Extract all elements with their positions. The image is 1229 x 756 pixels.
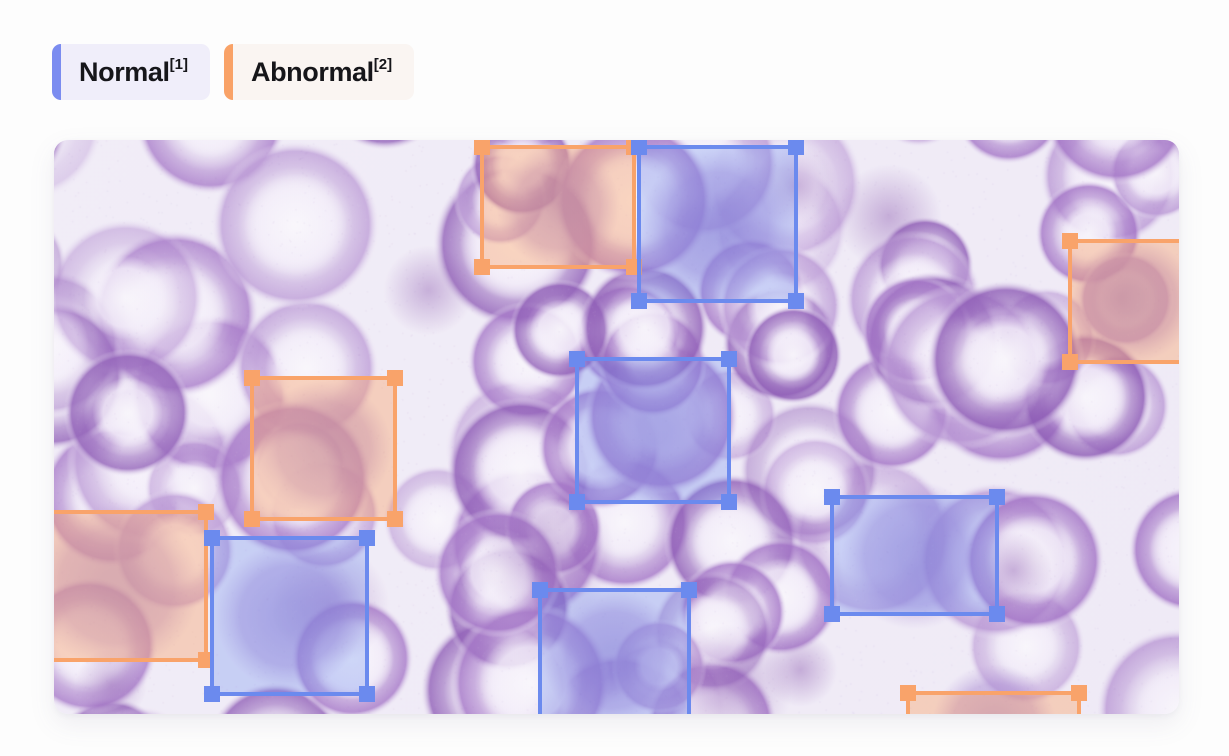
legend-label-abnormal: Abnormal[2]	[233, 44, 414, 100]
legend-color-swatch-abnormal	[224, 44, 233, 100]
bbox-handle-bl[interactable]	[474, 259, 490, 275]
bbox-handle-tl[interactable]	[1062, 233, 1078, 249]
bbox-handle-tl[interactable]	[631, 140, 647, 155]
bounding-box-abnormal-6[interactable]	[54, 510, 208, 662]
bbox-handle-br[interactable]	[788, 293, 804, 309]
bbox-handle-bl[interactable]	[244, 511, 260, 527]
bbox-handle-bl[interactable]	[569, 494, 585, 510]
legend-label-normal-text: Normal	[79, 57, 170, 88]
bounding-box-abnormal-1[interactable]	[480, 145, 636, 269]
legend-label-abnormal-text: Abnormal	[251, 57, 374, 88]
legend-label-normal: Normal[1]	[61, 44, 210, 100]
annotated-image-card[interactable]	[54, 140, 1179, 714]
bbox-handle-tr[interactable]	[1071, 685, 1087, 701]
legend-color-swatch-normal	[52, 44, 61, 100]
bbox-handle-bl[interactable]	[824, 606, 840, 622]
bbox-handle-bl[interactable]	[204, 686, 220, 702]
bbox-handle-bl[interactable]	[631, 293, 647, 309]
legend-chip-normal[interactable]: Normal[1]	[52, 44, 210, 100]
bbox-handle-tl[interactable]	[244, 370, 260, 386]
bounding-box-normal-7[interactable]	[210, 536, 369, 696]
bbox-handle-tl[interactable]	[569, 351, 585, 367]
bbox-handle-tr[interactable]	[387, 370, 403, 386]
legend-chip-abnormal[interactable]: Abnormal[2]	[224, 44, 414, 100]
bbox-handle-bl[interactable]	[1062, 354, 1078, 370]
bounding-box-abnormal-4[interactable]	[250, 376, 397, 521]
bbox-handle-br[interactable]	[387, 511, 403, 527]
bbox-handle-tr[interactable]	[788, 140, 804, 155]
bounding-box-abnormal-3[interactable]	[1068, 239, 1179, 364]
bbox-handle-br[interactable]	[721, 494, 737, 510]
bbox-handle-tr[interactable]	[681, 582, 697, 598]
bbox-handle-br[interactable]	[359, 686, 375, 702]
bbox-handle-tl[interactable]	[532, 582, 548, 598]
bounding-box-normal-9[interactable]	[538, 588, 691, 714]
bbox-handle-tr[interactable]	[198, 504, 214, 520]
bounding-box-normal-2[interactable]	[637, 145, 798, 303]
bbox-handle-tl[interactable]	[900, 685, 916, 701]
bounding-box-abnormal-10[interactable]	[906, 691, 1081, 714]
bbox-handle-tl[interactable]	[204, 530, 220, 546]
bbox-handle-tl[interactable]	[824, 489, 840, 505]
bbox-handle-tl[interactable]	[474, 140, 490, 155]
bounding-box-normal-5[interactable]	[575, 357, 731, 504]
bbox-handle-tr[interactable]	[721, 351, 737, 367]
legend: Normal[1] Abnormal[2]	[52, 44, 414, 100]
bbox-handle-tr[interactable]	[359, 530, 375, 546]
bbox-handle-tr[interactable]	[989, 489, 1005, 505]
bbox-handle-br[interactable]	[989, 606, 1005, 622]
bounding-box-normal-8[interactable]	[830, 495, 999, 616]
